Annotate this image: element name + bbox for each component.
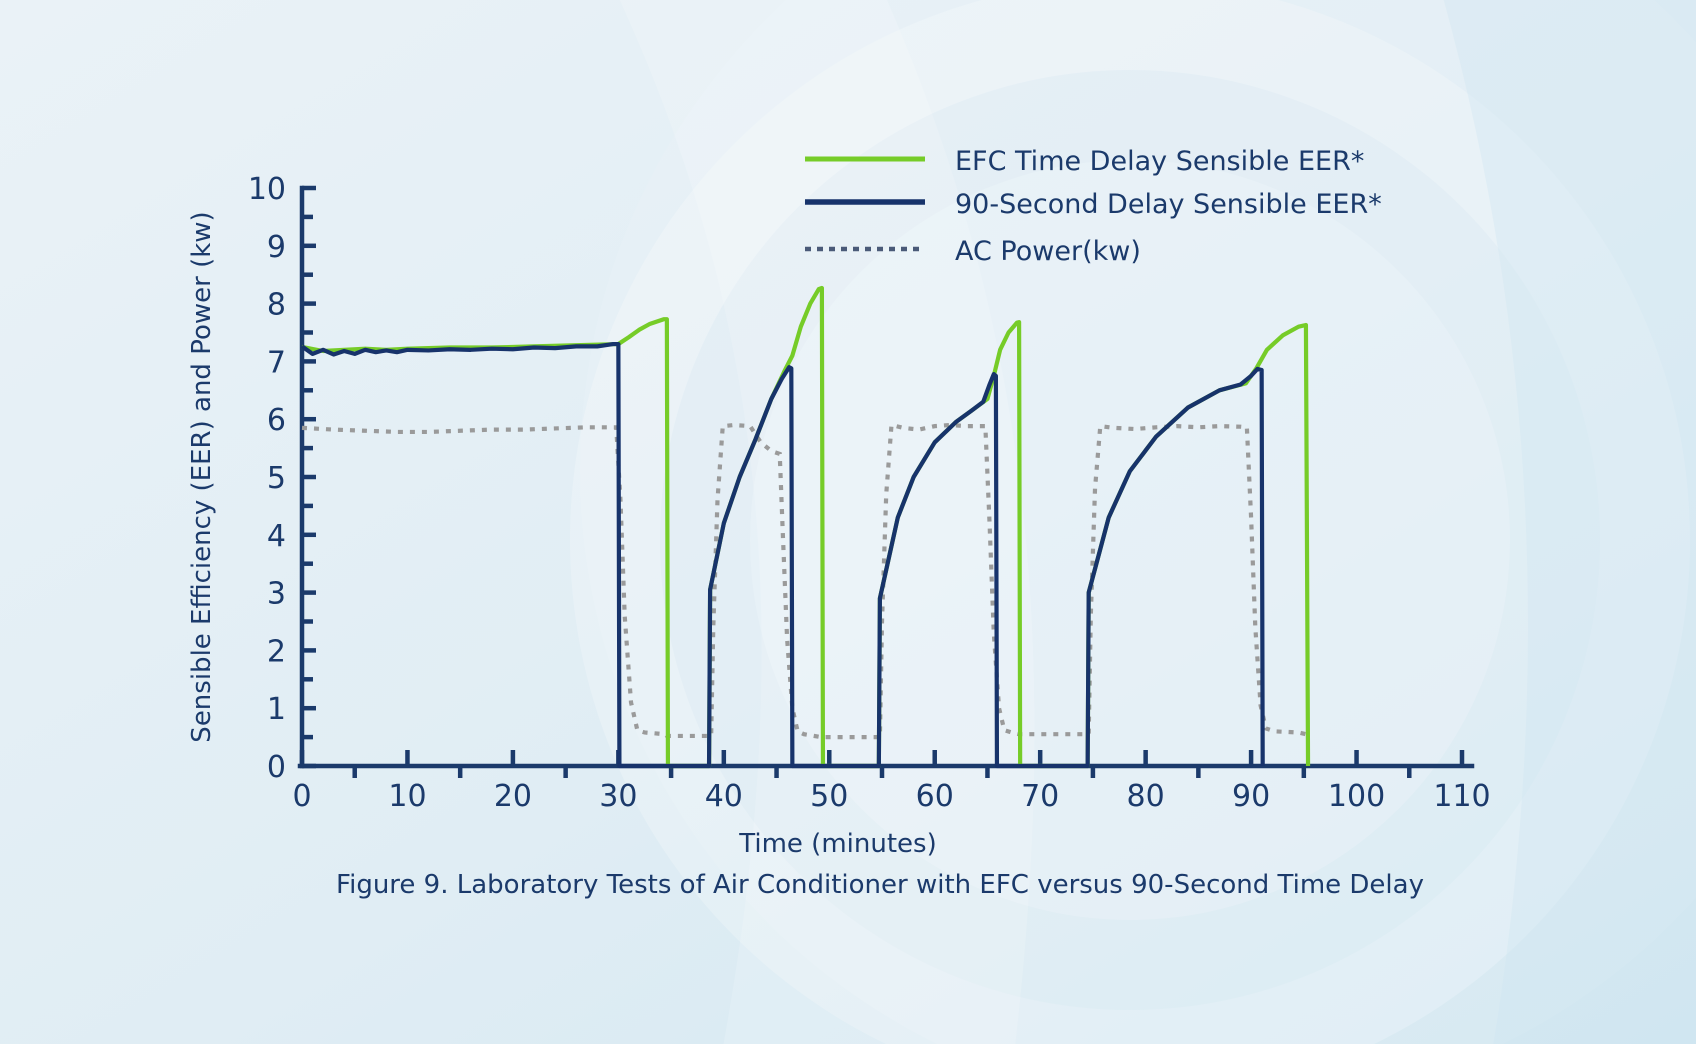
y-tick-label: 3 (267, 577, 286, 612)
x-axis: 0102030405060708090100110 (292, 750, 1490, 814)
y-tick-label: 1 (267, 692, 286, 727)
x-tick-label: 10 (388, 779, 426, 814)
legend-item-efc[interactable]: EFC Time Delay Sensible EER* (805, 146, 1364, 177)
legend-label-90second: 90-Second Delay Sensible EER* (955, 189, 1382, 220)
y-tick-label: 10 (248, 172, 286, 207)
series-group (302, 288, 1308, 766)
chart-container: 012345678910 0102030405060708090100110 S… (0, 0, 1696, 1044)
x-tick-label: 0 (292, 779, 311, 814)
x-axis-title: Time (minutes) (738, 829, 936, 859)
y-tick-label: 4 (267, 519, 286, 554)
x-tick-labels: 0102030405060708090100110 (292, 779, 1490, 814)
chart-legend: EFC Time Delay Sensible EER* 90-Second D… (805, 146, 1382, 267)
y-tick-label: 8 (267, 288, 286, 323)
legend-item-90second[interactable]: 90-Second Delay Sensible EER* (805, 189, 1382, 220)
figure-caption: Figure 9. Laboratory Tests of Air Condit… (336, 870, 1424, 900)
y-axis-title: Sensible Efficiency (EER) and Power (kw) (187, 211, 217, 742)
y-tick-label: 2 (267, 634, 286, 669)
x-tick-label: 20 (494, 779, 532, 814)
y-tick-label: 5 (267, 461, 286, 496)
y-tick-label: 0 (267, 750, 286, 785)
series-ac-power (302, 425, 1306, 737)
x-major-ticks (302, 750, 1462, 766)
x-tick-label: 100 (1328, 779, 1385, 814)
y-tick-label: 6 (267, 403, 286, 438)
legend-item-acpower[interactable]: AC Power(kw) (805, 236, 1141, 267)
x-tick-label: 40 (705, 779, 743, 814)
legend-label-acpower: AC Power(kw) (955, 236, 1141, 267)
x-tick-label: 110 (1433, 779, 1490, 814)
x-tick-label: 80 (1127, 779, 1165, 814)
y-axis: 012345678910 (248, 172, 316, 785)
figure-page: 012345678910 0102030405060708090100110 S… (0, 0, 1696, 1044)
x-tick-label: 60 (916, 779, 954, 814)
x-tick-label: 90 (1232, 779, 1270, 814)
y-tick-labels: 012345678910 (248, 172, 286, 785)
series-90-second-delay (302, 344, 1263, 766)
series-efc-time-delay (302, 288, 1308, 766)
eer-power-line-chart: 012345678910 0102030405060708090100110 S… (0, 0, 1696, 1044)
x-tick-label: 50 (810, 779, 848, 814)
y-tick-label: 7 (267, 345, 286, 380)
legend-label-efc: EFC Time Delay Sensible EER* (955, 146, 1364, 177)
x-tick-label: 70 (1021, 779, 1059, 814)
x-tick-label: 30 (599, 779, 637, 814)
y-tick-label: 9 (267, 230, 286, 265)
